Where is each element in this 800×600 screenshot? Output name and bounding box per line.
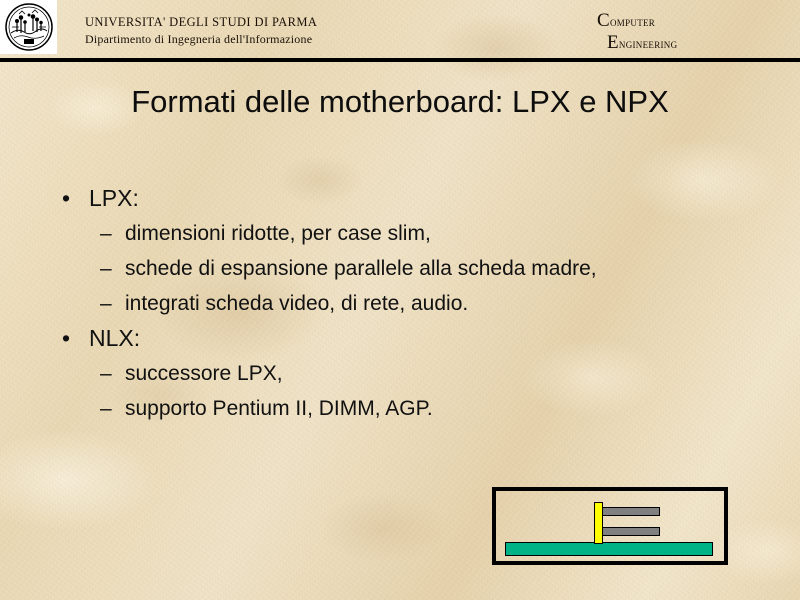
bullet-text: dimensioni ridotte, per case slim, bbox=[125, 216, 431, 251]
slide-canvas: UNIVERSITA' DEGLI STUDI DI PARMA Diparti… bbox=[0, 0, 800, 600]
university-text-block: UNIVERSITA' DEGLI STUDI DI PARMA Diparti… bbox=[85, 14, 317, 48]
brand-line-computer: Computer bbox=[597, 10, 677, 32]
bullet-marker-icon: • bbox=[62, 181, 89, 216]
bullet-item: –schede di espansione parallele alla sch… bbox=[62, 251, 762, 286]
bullet-item: –supporto Pentium II, DIMM, AGP. bbox=[62, 391, 762, 426]
bullet-text: integrati scheda video, di rete, audio. bbox=[125, 286, 468, 321]
dash-marker-icon: – bbox=[100, 251, 125, 286]
bullet-item: •NLX: bbox=[62, 321, 762, 356]
page-title: Formati delle motherboard: LPX e NPX bbox=[0, 84, 800, 120]
bullet-text: LPX: bbox=[89, 181, 139, 216]
bullet-text: NLX: bbox=[89, 321, 140, 356]
bullet-marker-icon: • bbox=[62, 321, 89, 356]
department-name: Dipartimento di Ingegneria dell'Informaz… bbox=[85, 31, 317, 48]
dash-marker-icon: – bbox=[100, 286, 125, 321]
bullet-item: –successore LPX, bbox=[62, 356, 762, 391]
brand-cap-c: C bbox=[597, 10, 610, 31]
bullet-text: supporto Pentium II, DIMM, AGP. bbox=[125, 391, 433, 426]
header-divider bbox=[0, 58, 800, 62]
expansion-card-2-shape bbox=[602, 527, 660, 536]
computer-engineering-brand: Computer Engineering bbox=[597, 10, 677, 54]
dash-marker-icon: – bbox=[100, 356, 125, 391]
university-logo-box bbox=[0, 0, 57, 54]
brand-line-engineering: Engineering bbox=[597, 32, 677, 54]
bullet-item: –dimensioni ridotte, per case slim, bbox=[62, 216, 762, 251]
dash-marker-icon: – bbox=[100, 216, 125, 251]
bullet-item: •LPX: bbox=[62, 181, 762, 216]
bullet-item: –integrati scheda video, di rete, audio. bbox=[62, 286, 762, 321]
brand-rest-computer: omputer bbox=[610, 14, 655, 29]
expansion-card-1-shape bbox=[602, 507, 660, 516]
bullet-text: successore LPX, bbox=[125, 356, 283, 391]
slim-case-diagram bbox=[492, 487, 728, 565]
bullet-text: schede di espansione parallele alla sche… bbox=[125, 251, 597, 286]
brand-cap-e: E bbox=[607, 32, 619, 53]
brand-rest-engineering: ngineering bbox=[619, 36, 678, 51]
university-seal-icon bbox=[4, 2, 54, 52]
university-name: UNIVERSITA' DEGLI STUDI DI PARMA bbox=[85, 14, 317, 31]
dash-marker-icon: – bbox=[100, 391, 125, 426]
motherboard-shape bbox=[505, 542, 713, 556]
slide-header: UNIVERSITA' DEGLI STUDI DI PARMA Diparti… bbox=[0, 0, 800, 62]
bullet-list: •LPX:–dimensioni ridotte, per case slim,… bbox=[62, 181, 762, 426]
